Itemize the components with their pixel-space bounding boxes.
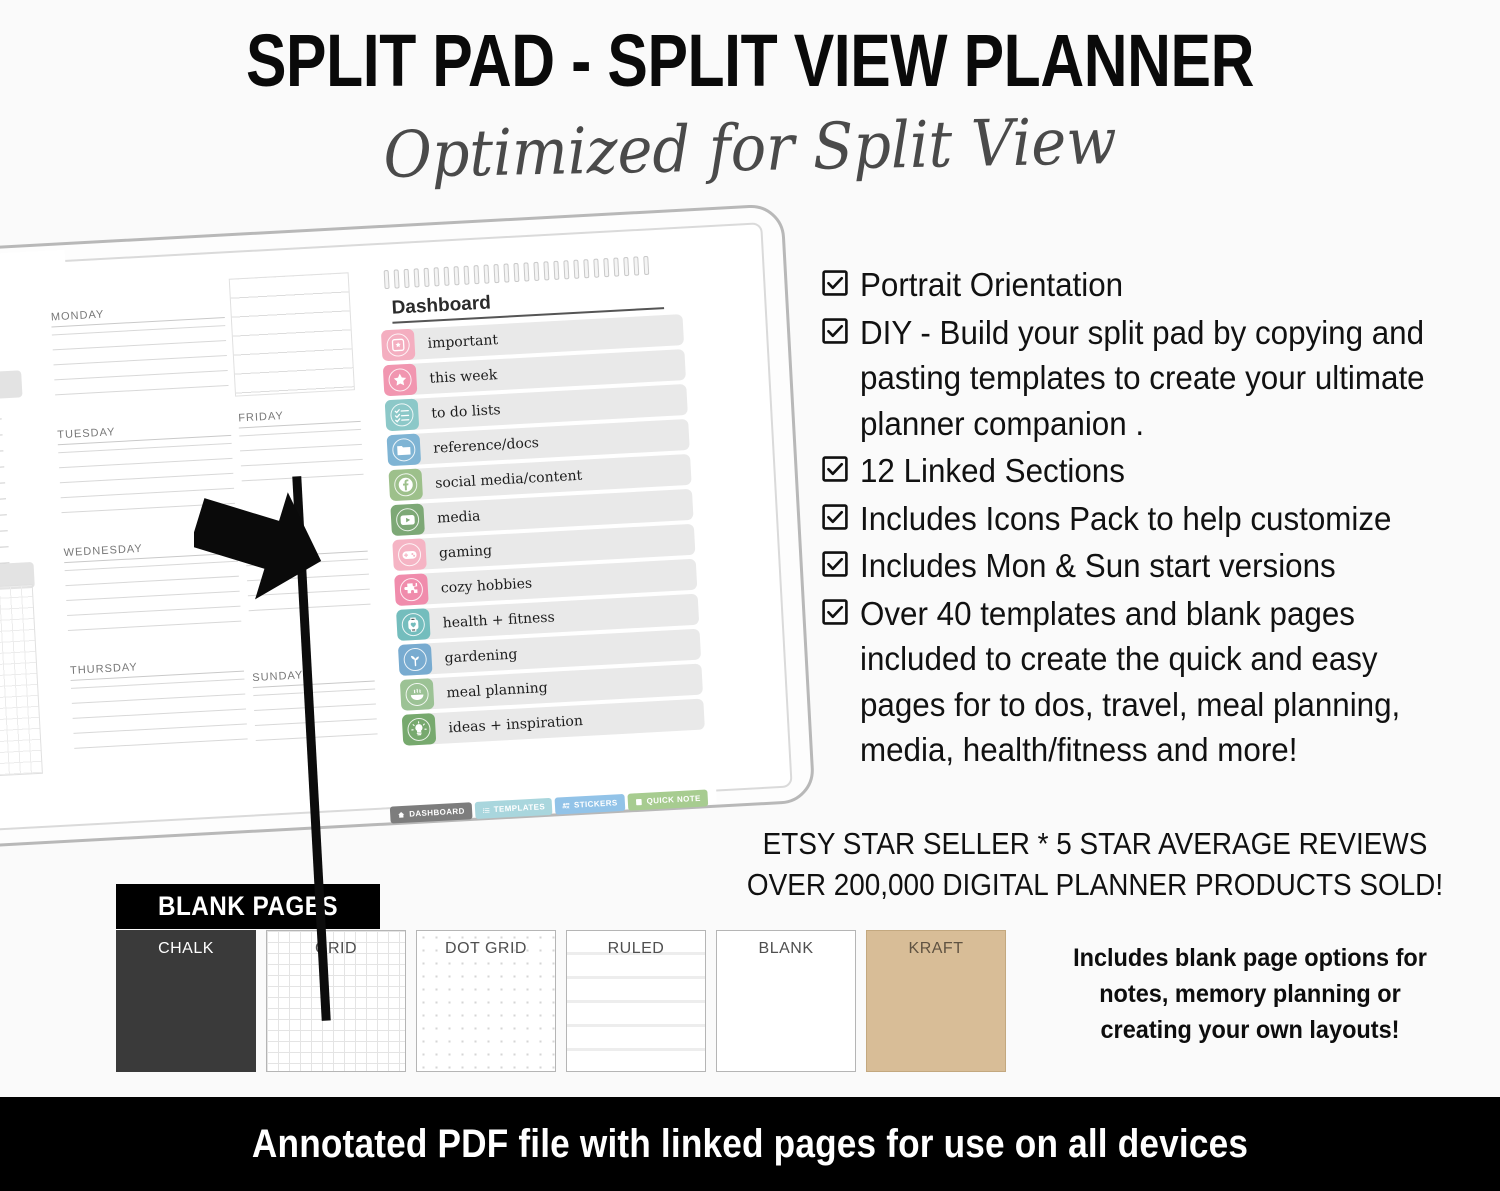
checklist-line [0, 514, 7, 523]
checklist-line [0, 546, 9, 555]
gamepad-icon [392, 538, 427, 571]
planner-page-dashboard: Dashboard importantthis weekto do listsr… [367, 244, 717, 820]
bowl-icon [400, 678, 435, 711]
dashboard-menu-item-label: health + fitness [442, 609, 555, 631]
section-header-bar [0, 370, 23, 407]
dashboard-menu-item-label: social media/content [435, 467, 583, 491]
blank-pages-note: Includes blank page options for notes, m… [1053, 940, 1448, 1048]
swatch-label: BLANK [717, 940, 855, 958]
home-icon [397, 810, 405, 818]
sticker-icon [562, 801, 570, 809]
checked-checkbox-icon [822, 318, 848, 344]
feature-item: Includes Mon & Sun start versions [822, 543, 1494, 589]
day-write-lines [253, 688, 377, 741]
swatch-kraft: KRAFT [866, 930, 1006, 1072]
grid-panel [0, 584, 43, 785]
checklist-line [0, 498, 6, 507]
blank-page-swatches: CHALKGRIDDOT GRIDRULEDBLANKKRAFT [116, 930, 1006, 1072]
dashboard-menu-item-label: meal planning [446, 679, 548, 700]
feature-item-label: Includes Icons Pack to help customize [860, 496, 1391, 542]
swatch-blank: BLANK [716, 930, 856, 1072]
product-listing-graphic: SPLIT PAD - SPLIT VIEW PLANNER Optimized… [0, 0, 1500, 1191]
feature-item-label: 12 Linked Sections [860, 448, 1125, 494]
pointer-arrow-icon [194, 486, 324, 606]
checklist-line [0, 530, 8, 539]
swatch-label: KRAFT [867, 940, 1005, 958]
checked-checkbox-icon [822, 551, 848, 577]
spiral-binding-icon [384, 254, 681, 290]
checklist-line [0, 450, 3, 459]
dashboard-menu-item-label: this week [429, 367, 498, 387]
page-title: SPLIT PAD - SPLIT VIEW PLANNER [135, 24, 1365, 98]
checked-checkbox-icon [822, 456, 848, 482]
day-write-lines [239, 429, 363, 482]
dashboard-menu-item-label: reference/docs [433, 435, 539, 457]
swatch-chalk: CHALK [116, 930, 256, 1072]
etsy-credentials: ETSY STAR SELLER * 5 STAR AVERAGE REVIEW… [740, 824, 1451, 906]
footer-text: Annotated PDF file with linked pages for… [252, 1122, 1248, 1167]
feature-item: Portrait Orientation [822, 262, 1494, 308]
tab-label: QUICK NOTE [646, 794, 701, 806]
page-subtitle: Optimized for Split View [60, 99, 1441, 199]
dashboard-menu-item-label: to do lists [431, 402, 501, 422]
folder-icon [387, 433, 422, 466]
swatch-label: GRID [267, 940, 405, 958]
lightbulb-icon [402, 713, 437, 746]
swatch-label: CHALK [117, 940, 255, 958]
blank-pages-badge-label: BLANK PAGES [158, 891, 338, 922]
checked-checkbox-icon [822, 504, 848, 530]
dashboard-heading: Dashboard [391, 292, 491, 319]
tab-label: STICKERS [574, 798, 618, 809]
grid-panel [229, 272, 355, 396]
youtube-icon [390, 503, 425, 536]
swatch-label: RULED [567, 940, 705, 958]
left-note-lines [0, 250, 65, 267]
puzzle-icon [394, 573, 429, 606]
dashboard-menu-item-label: cozy hobbies [440, 575, 532, 596]
note-icon [634, 797, 642, 805]
left-checklist [0, 250, 65, 267]
checklist-icon [385, 399, 420, 432]
dashboard-menu-item-label: important [427, 332, 498, 352]
dashboard-menu-item-label: media [437, 508, 481, 526]
feature-item: 12 Linked Sections [822, 448, 1494, 494]
feature-item-label: Over 40 templates and blank pages includ… [860, 591, 1462, 773]
star-icon [383, 364, 418, 397]
swatch-ruled: RULED [566, 930, 706, 1072]
dashboard-menu-item-label: gaming [439, 542, 493, 561]
swatch-label: DOT GRID [417, 940, 555, 958]
feature-item: Includes Icons Pack to help customize [822, 496, 1494, 542]
feature-item-label: Portrait Orientation [860, 262, 1123, 308]
dashboard-menu-item-label: gardening [444, 646, 517, 666]
blank-pages-badge: BLANK PAGES [116, 884, 380, 929]
feature-item-label: DIY - Build your split pad by copying an… [860, 310, 1462, 447]
sprout-icon [398, 643, 433, 676]
list-icon [481, 806, 489, 814]
feature-list: Portrait OrientationDIY - Build your spl… [822, 262, 1494, 775]
etsy-line-2: OVER 200,000 DIGITAL PLANNER PRODUCTS SO… [740, 865, 1451, 906]
etsy-line-1: ETSY STAR SELLER * 5 STAR AVERAGE REVIEW… [740, 824, 1451, 865]
swatch-grid: GRID [266, 930, 406, 1072]
checked-checkbox-icon [822, 270, 848, 296]
checked-checkbox-icon [822, 599, 848, 625]
facebook-icon [388, 468, 423, 501]
footer-banner: Annotated PDF file with linked pages for… [0, 1097, 1500, 1191]
star-badge-icon [381, 329, 416, 362]
checklist-line [0, 482, 5, 491]
feature-item: DIY - Build your split pad by copying an… [822, 310, 1494, 447]
feature-item-label: Includes Mon & Sun start versions [860, 543, 1336, 589]
tab-label: TEMPLATES [493, 802, 545, 814]
planner-mockup: M W D MONDAYTUESDAYWEDNESDAYTHURSDAY FRI… [0, 218, 820, 858]
checklist-line [0, 434, 3, 443]
feature-item: Over 40 templates and blank pages includ… [822, 591, 1494, 773]
heart-watch-icon [396, 608, 431, 641]
tab-label: DASHBOARD [409, 807, 465, 819]
dashboard-menu-item-label: ideas + inspiration [448, 713, 583, 736]
swatch-dot: DOT GRID [416, 930, 556, 1072]
checklist-line [0, 466, 4, 475]
checklist-line [0, 418, 2, 427]
dashboard-menu: importantthis weekto do listsreference/d… [383, 314, 705, 750]
